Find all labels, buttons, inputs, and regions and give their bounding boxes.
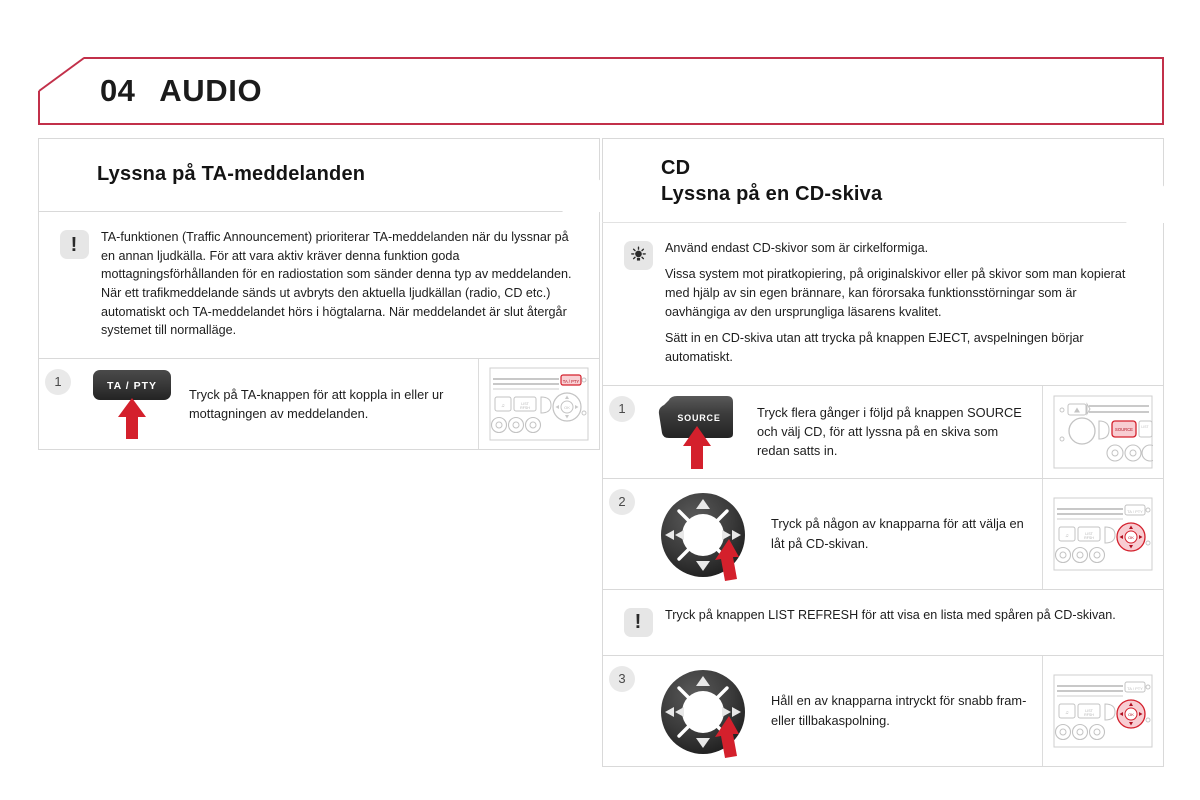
svg-text:OK: OK [564,405,570,410]
tip-body: Använd endast CD-skivor som är cirkelfor… [665,239,1145,367]
dpad-control-icon [651,664,761,760]
note-icon-wrap: ! [611,606,665,637]
step-text: Tryck flera gånger i följd på knappen SO… [751,386,1042,478]
exclamation-glyph: ! [71,235,78,255]
step-row: 1 TA / PTY [38,359,600,450]
exclamation-glyph: ! [635,612,642,632]
note-body: Tryck på knappen LIST REFRESH för att vi… [665,606,1145,637]
step-number-badge: 3 [609,666,635,692]
step-thumbnail: TA / PTY ♫ LIST RFSH OK [1042,479,1163,589]
radio-faceplate-ta-pty-icon: TA / PTY ♫ LIST RFSH OK [489,367,589,441]
note-paragraph: TA-funktionen (Traffic Announcement) pri… [101,228,577,340]
svg-text:♫: ♫ [1065,710,1069,716]
step-thumbnail: TA / PTY ♫ LIST RFSH OK [1042,656,1163,766]
radio-faceplate-dpad-icon: TA / PTY ♫ LIST RFSH OK [1053,497,1153,571]
step-number-wrap: 1 [39,359,87,449]
svg-text:SOURCE: SOURCE [677,413,720,423]
step-row: 1 SOURCE Tryck flera gånger i [602,386,1164,479]
ta-pty-button-art: TA / PTY [87,359,183,449]
svg-text:RFSH: RFSH [1084,713,1094,717]
cd-tip-note: Använd endast CD-skivor som är cirkelfor… [602,223,1164,386]
step-text: Tryck på TA-knappen för att koppla in el… [183,359,478,449]
svg-text:RFSH: RFSH [1084,536,1094,540]
ta-pty-button-icon: TA / PTY [87,367,179,443]
source-button-icon: SOURCE [651,394,747,472]
step-number-wrap: 1 [603,386,651,478]
svg-text:TA / PTY: TA / PTY [1127,686,1143,691]
radio-faceplate-source-icon: SOURCE LIST [1053,395,1153,469]
manual-page: 04 AUDIO Lyssna på TA-meddelanden ! TA-f… [0,0,1200,800]
step-row: 2 [602,479,1164,590]
exclamation-icon: ! [60,230,89,259]
svg-text:♫: ♫ [1065,533,1069,539]
dpad-control-art [651,479,765,589]
bulb-icon [624,241,653,270]
chapter-title: AUDIO [159,73,262,109]
right-section-title-box: CD Lyssna på en CD-skiva [602,138,1164,223]
step-number-badge: 1 [45,369,71,395]
left-column: Lyssna på TA-meddelanden ! TA-funktionen… [38,138,600,450]
note-icon-wrap: ! [47,228,101,340]
radio-faceplate-dpad-icon: TA / PTY ♫ LIST RFSH OK [1053,674,1153,748]
step-text: Tryck på någon av knapparna för att välj… [765,479,1042,589]
step-text: Håll en av knapparna intryckt för snabb … [765,656,1042,766]
step-number-badge: 2 [609,489,635,515]
bulb-glyph [629,246,648,265]
ta-warning-note: ! TA-funktionen (Traffic Announcement) p… [38,212,600,359]
left-section-title: Lyssna på TA-meddelanden [97,161,573,187]
note-body: TA-funktionen (Traffic Announcement) pri… [101,228,581,340]
chapter-number: 04 [100,73,135,109]
tip-paragraph-1: Använd endast CD-skivor som är cirkelfor… [665,239,1141,258]
right-section-title: CD [661,155,1137,181]
left-section-title-box: Lyssna på TA-meddelanden [38,138,600,212]
svg-text:TA / PTY: TA / PTY [107,380,157,392]
exclamation-icon: ! [624,608,653,637]
svg-text:♫: ♫ [501,403,505,409]
chapter-header: 04 AUDIO [38,57,1164,125]
list-refresh-note: ! Tryck på knappen LIST REFRESH för att … [602,590,1164,656]
step-row: 3 [602,656,1164,767]
step-number-wrap: 3 [603,656,651,766]
right-column: CD Lyssna på en CD-skiva [602,138,1164,767]
right-section-subtitle: Lyssna på en CD-skiva [661,181,1137,207]
svg-text:OK: OK [1128,712,1134,717]
dpad-control-art [651,656,765,766]
dpad-control-icon [651,487,761,583]
tip-icon-wrap [611,239,665,367]
step-thumbnail: SOURCE LIST [1042,386,1163,478]
step-number-wrap: 2 [603,479,651,589]
note-paragraph: Tryck på knappen LIST REFRESH för att vi… [665,606,1141,625]
step-number-badge: 1 [609,396,635,422]
svg-text:LIST: LIST [1141,425,1148,429]
step-thumbnail: TA / PTY ♫ LIST RFSH OK [478,359,599,449]
svg-text:RFSH: RFSH [520,406,530,410]
tip-paragraph-3: Sätt in en CD-skiva utan att trycka på k… [665,329,1141,366]
tip-paragraph-2: Vissa system mot piratkopiering, på orig… [665,265,1141,321]
source-button-art: SOURCE [651,386,751,478]
svg-text:TA / PTY: TA / PTY [563,379,580,384]
svg-text:SOURCE: SOURCE [1115,427,1133,432]
svg-text:TA / PTY: TA / PTY [1127,509,1143,514]
svg-text:OK: OK [1128,535,1134,540]
